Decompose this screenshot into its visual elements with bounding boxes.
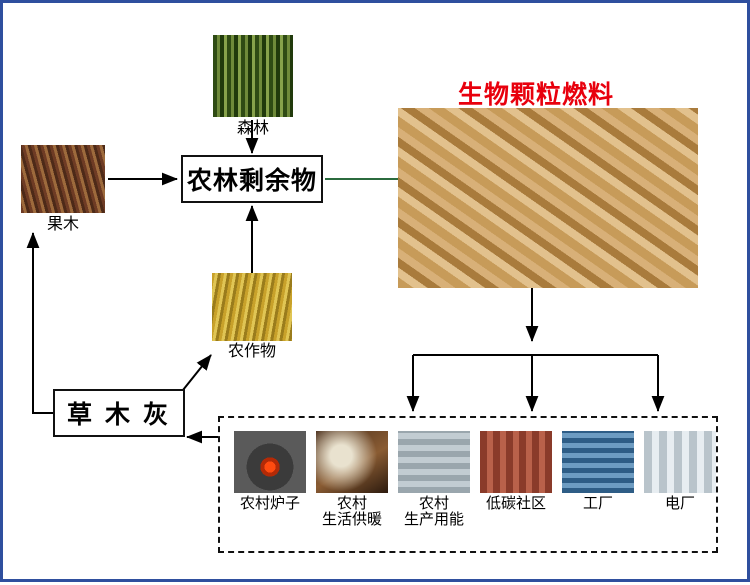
use-label-3: 低碳社区 — [480, 496, 552, 512]
factory-photo — [562, 431, 634, 493]
rice-crop-photo — [212, 273, 292, 341]
use-cell-3: 低碳社区 — [480, 431, 552, 512]
diagram-canvas: 森林 果木 农作物 农林剩余物 草 木 灰 生物颗粒燃料 农村炉子 农村 生活供… — [0, 0, 750, 582]
forest-photo — [213, 35, 293, 117]
use-label-5: 电厂 — [644, 496, 716, 512]
biomass-pellets-photo — [398, 108, 698, 288]
node-agroforestry-residue: 农林剩余物 — [181, 155, 323, 203]
page-title: 生物颗粒燃料 — [458, 75, 614, 111]
use-cell-0: 农村炉子 — [234, 431, 306, 512]
village-stove-photo — [234, 431, 306, 493]
use-label-4: 工厂 — [562, 496, 634, 512]
fruitwood-label: 果木 — [21, 216, 105, 233]
node-plant-ash: 草 木 灰 — [53, 389, 185, 437]
rural-production-energy-photo — [398, 431, 470, 493]
uses-group: 农村炉子 农村 生活供暖 农村 生产用能 低碳社区 工厂 电厂 — [218, 416, 718, 553]
crop-label: 农作物 — [202, 343, 302, 360]
power-plant-photo — [644, 431, 716, 493]
use-cell-2: 农村 生产用能 — [398, 431, 470, 528]
fruitwood-photo — [21, 145, 105, 213]
use-label-1: 农村 生活供暖 — [316, 496, 388, 528]
node-agroforestry-residue-label: 农林剩余物 — [187, 161, 317, 197]
use-cell-5: 电厂 — [644, 431, 716, 512]
use-label-2: 农村 生产用能 — [398, 496, 470, 528]
use-cell-4: 工厂 — [562, 431, 634, 512]
rural-heating-photo — [316, 431, 388, 493]
forest-label: 森林 — [213, 120, 293, 137]
use-label-0: 农村炉子 — [234, 496, 306, 512]
node-plant-ash-label: 草 木 灰 — [67, 395, 171, 431]
low-carbon-community-photo — [480, 431, 552, 493]
use-cell-1: 农村 生活供暖 — [316, 431, 388, 528]
